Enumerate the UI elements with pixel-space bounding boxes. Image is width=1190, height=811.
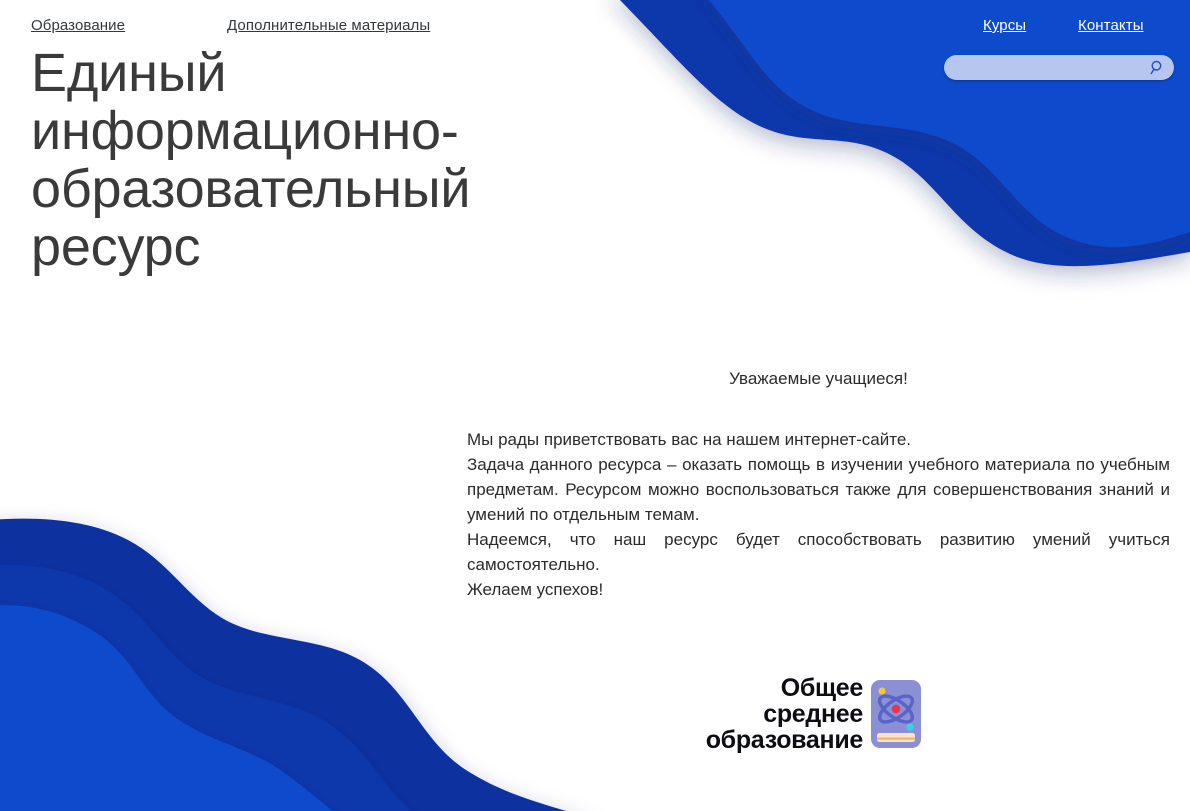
greeting-text: Уважаемые учащиеся!: [467, 366, 1170, 391]
search-input[interactable]: [944, 55, 1174, 80]
main-content: Уважаемые учащиеся! Мы рады приветствова…: [467, 366, 1170, 602]
nav-link-kursy[interactable]: Курсы: [983, 17, 1026, 35]
search-box[interactable]: [944, 55, 1174, 80]
top-navigation: Образование Дополнительные материалы Кур…: [0, 0, 1190, 42]
paragraph-2: Задача данного ресурса – оказать помощь …: [467, 452, 1170, 527]
paragraph-1: Мы рады приветствовать вас на нашем инте…: [467, 427, 1170, 452]
nav-link-kontakty[interactable]: Контакты: [1078, 17, 1144, 35]
paragraph-3: Надеемся, что наш ресурс будет способств…: [467, 527, 1170, 577]
page-title: Единый информационно-образовательный рес…: [31, 44, 591, 276]
logo-line-2: среднее: [706, 701, 863, 727]
logo-text: Общее среднее образование: [706, 675, 863, 753]
nav-link-dopolnitelnye-materialy[interactable]: Дополнительные материалы: [227, 17, 430, 35]
nav-link-obrazovanie[interactable]: Образование: [31, 17, 125, 35]
logo-line-1: Общее: [706, 675, 863, 701]
logo[interactable]: Общее среднее образование: [667, 673, 923, 755]
logo-line-3: образование: [706, 727, 863, 753]
welcome-text: Мы рады приветствовать вас на нашем инте…: [467, 427, 1170, 602]
paragraph-4: Желаем успехов!: [467, 577, 1170, 602]
book-atom-icon: [869, 678, 923, 750]
search-icon[interactable]: [1149, 59, 1166, 76]
blob-bottom-mid: [0, 565, 424, 811]
blob-bottom-bright: [0, 605, 346, 811]
